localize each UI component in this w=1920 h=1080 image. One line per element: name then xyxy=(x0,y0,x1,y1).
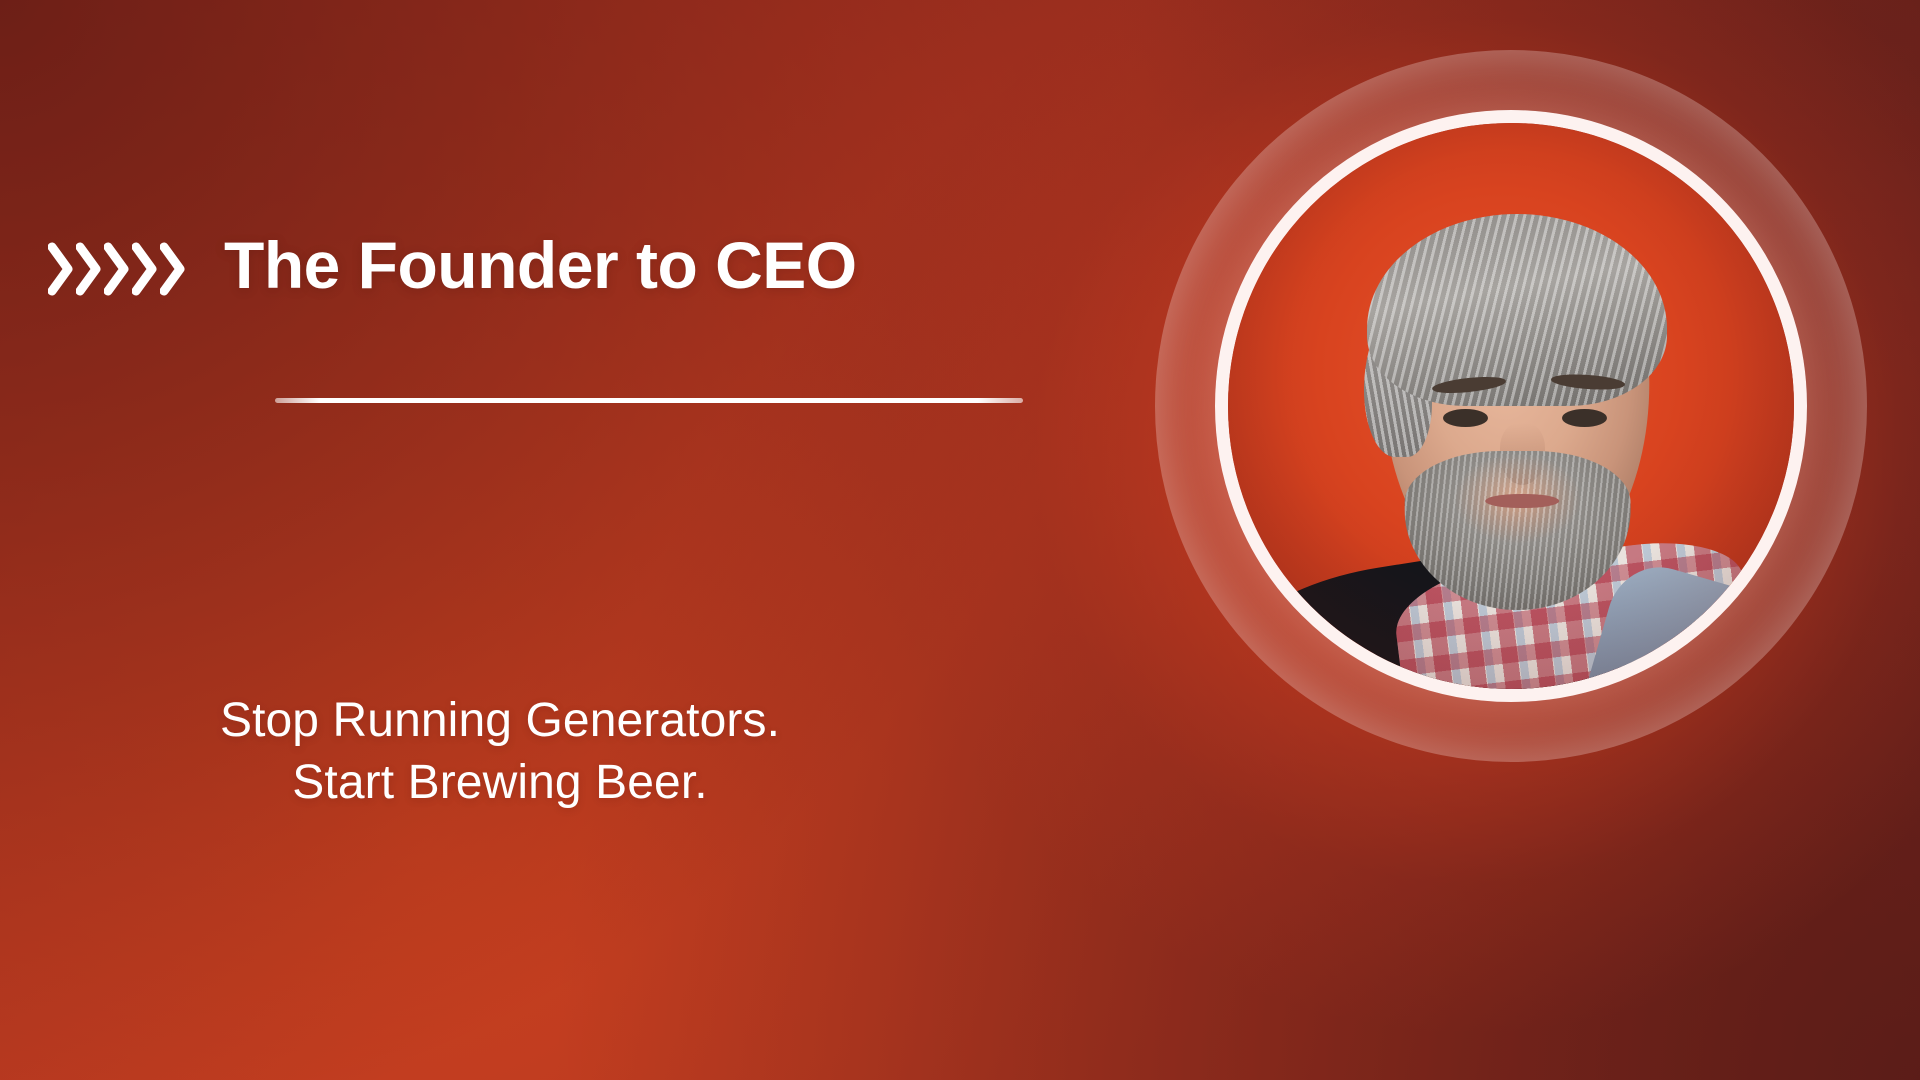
slide-canvas: The Founder to CEO Stop Running Generato… xyxy=(0,0,1920,1080)
portrait-vignette xyxy=(1228,123,1794,689)
chevron-right-icon xyxy=(104,241,130,297)
subtitle-line-2: Start Brewing Beer. xyxy=(40,752,960,814)
title-divider xyxy=(275,398,1023,403)
chevron-right-icon xyxy=(48,241,74,297)
subtitle-line-1: Stop Running Generators. xyxy=(40,690,960,752)
portrait-photo xyxy=(1228,123,1794,689)
page-title: The Founder to CEO xyxy=(224,232,857,298)
chevron-right-icon xyxy=(132,241,158,297)
chevron-group xyxy=(48,241,186,297)
avatar-photo xyxy=(1228,123,1794,689)
subtitle: Stop Running Generators. Start Brewing B… xyxy=(40,690,960,815)
chevron-right-icon xyxy=(160,241,186,297)
headline-row: The Founder to CEO xyxy=(48,232,857,298)
avatar xyxy=(1193,88,1829,724)
chevron-right-icon xyxy=(76,241,102,297)
